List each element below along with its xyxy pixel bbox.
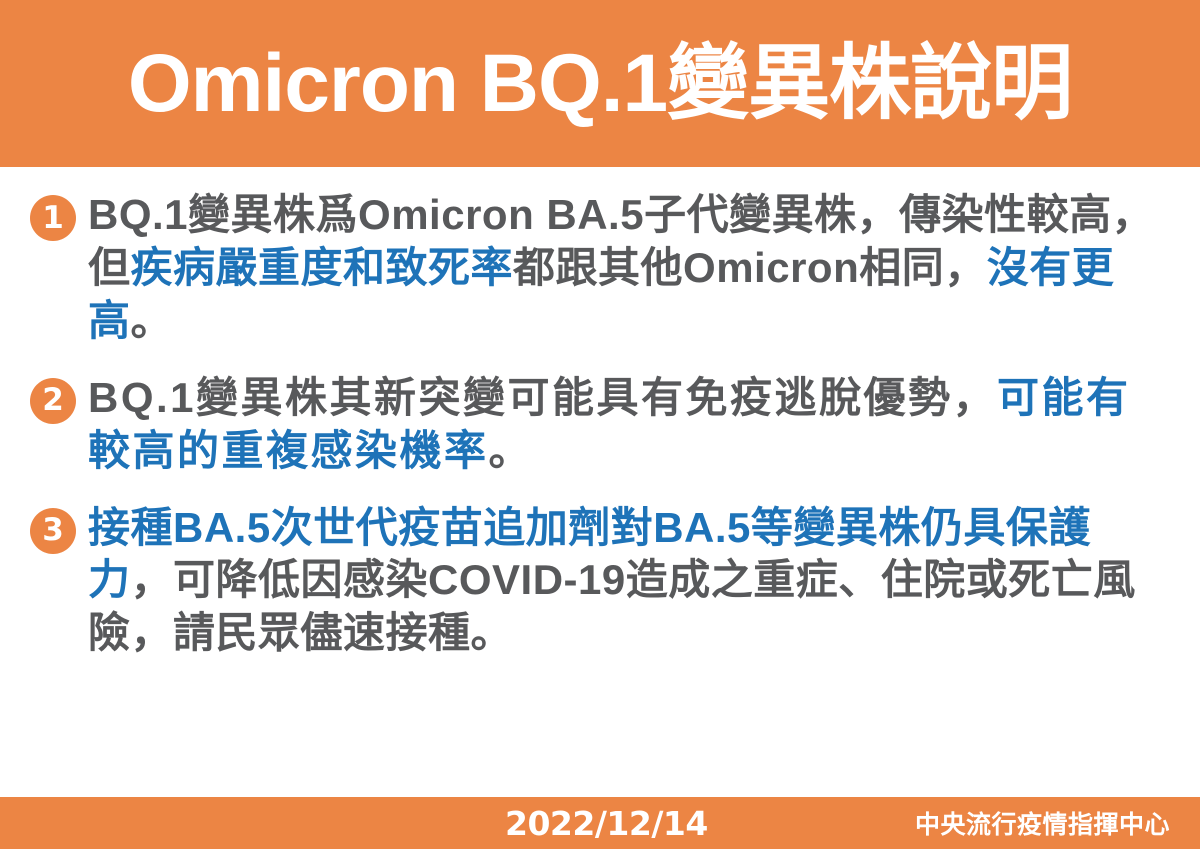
text-segment: 。 (131, 297, 174, 344)
footer-band: 2022/12/14 中央流行疫情指揮中心 (0, 797, 1200, 849)
issuing-agency: 中央流行疫情指揮中心 (915, 805, 1170, 841)
list-item: 3 接種BA.5次世代疫苗追加劑對BA.5等變異株仍具保護力，可降低因感染COV… (30, 502, 1170, 661)
item-text: 接種BA.5次世代疫苗追加劑對BA.5等變異株仍具保護力，可降低因感染COVID… (88, 502, 1170, 661)
item-text: BQ.1變異株爲Omicron BA.5子代變異株，傳染性較高，但疾病嚴重度和致… (88, 189, 1170, 348)
text-segment: 疾病嚴重度和致死率 (131, 244, 514, 291)
page-title: Omicron BQ.1變異株說明 (128, 43, 1072, 125)
text-segment: 。 (489, 427, 534, 474)
text-segment: BQ.1變異株其新突變可能具有免疫逃脫優勢， (88, 374, 997, 421)
infographic-poster: Omicron BQ.1變異株說明 1 BQ.1變異株爲Omicron BA.5… (0, 0, 1200, 849)
bullet-list: 1 BQ.1變異株爲Omicron BA.5子代變異株，傳染性較高，但疾病嚴重度… (0, 167, 1200, 797)
list-item: 1 BQ.1變異株爲Omicron BA.5子代變異株，傳染性較高，但疾病嚴重度… (30, 189, 1170, 348)
text-segment: 都跟其他Omicron相同， (513, 244, 987, 291)
item-number-badge: 2 (30, 378, 76, 424)
list-item: 2 BQ.1變異株其新突變可能具有免疫逃脫優勢，可能有較高的重複感染機率。 (30, 372, 1170, 478)
item-text: BQ.1變異株其新突變可能具有免疫逃脫優勢，可能有較高的重複感染機率。 (88, 372, 1170, 478)
publication-date: 2022/12/14 (505, 804, 708, 843)
item-number-badge: 3 (30, 508, 76, 554)
text-segment: ，可降低因感染COVID-19造成之重症、住院或死亡風險，請民眾儘速接種。 (88, 556, 1136, 656)
item-number-badge: 1 (30, 195, 76, 241)
header-band: Omicron BQ.1變異株說明 (0, 0, 1200, 167)
